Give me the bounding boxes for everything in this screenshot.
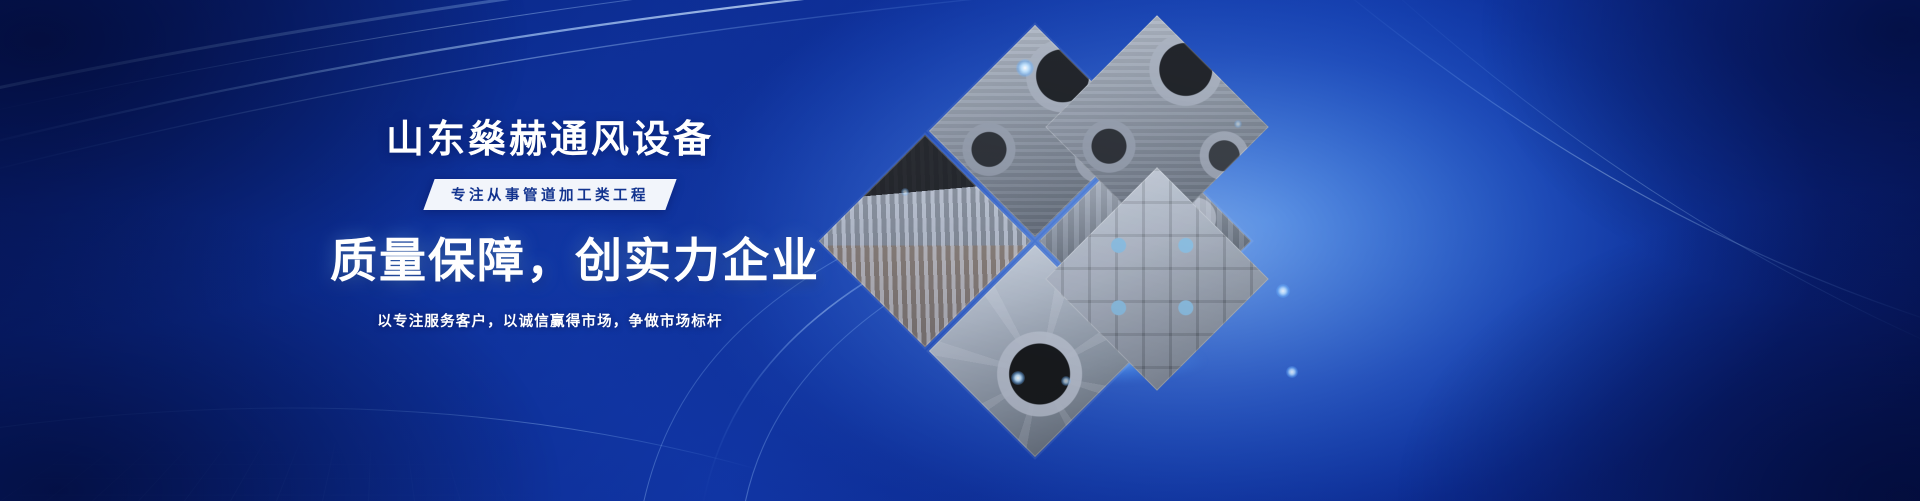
hero-banner: 山东燊赫通风设备 专注从事管道加工类工程 质量保障，创实力企业 以专注服务客户，…: [0, 0, 1920, 501]
glow-spark-2: [1276, 284, 1290, 298]
brand-title: 山东燊赫通风设备: [330, 118, 770, 163]
subtitle-ribbon: 专注从事管道加工类工程: [423, 179, 676, 210]
glow-spark-3: [1286, 366, 1298, 378]
headline: 质量保障，创实力企业: [330, 234, 770, 288]
subtitle-ribbon-label: 专注从事管道加工类工程: [451, 184, 649, 205]
banner-copy: 山东燊赫通风设备 专注从事管道加工类工程 质量保障，创实力企业 以专注服务客户，…: [330, 118, 770, 331]
background-grid-mesh: [0, 413, 760, 501]
tagline: 以专注服务客户，以诚信赢得市场，争做市场标杆: [330, 310, 770, 331]
